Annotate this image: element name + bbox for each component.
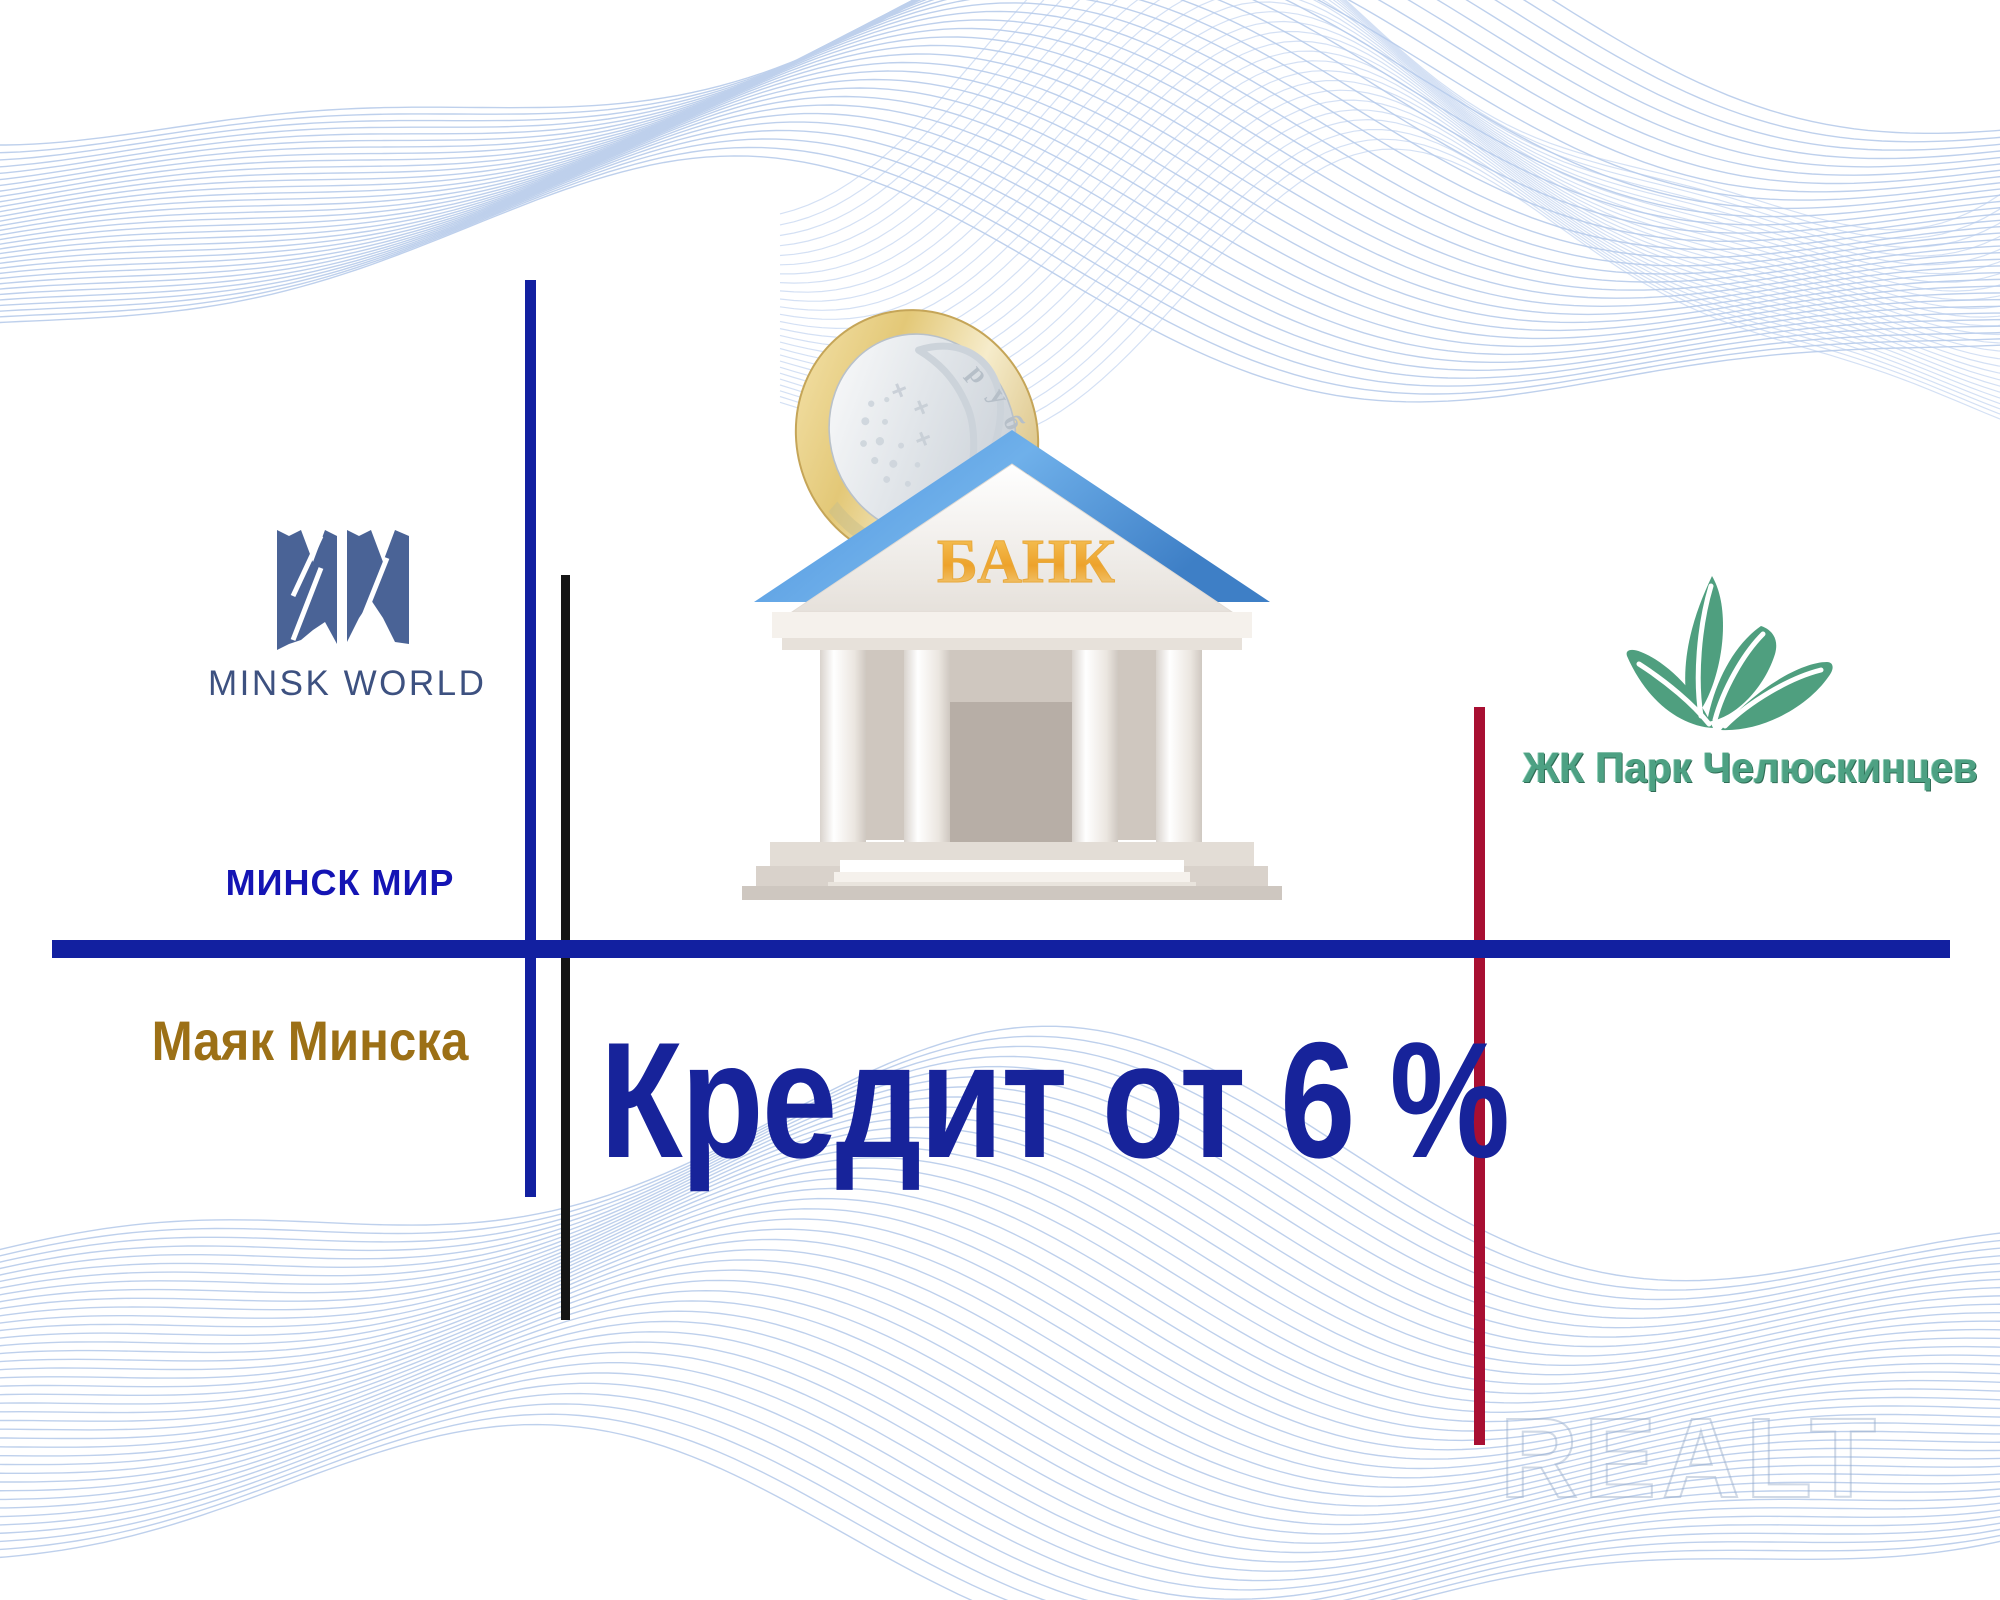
park-chelyuskintsev-leaves-icon bbox=[1595, 570, 1855, 740]
park-chelyuskintsev-label: ЖК Парк Челюскинцев bbox=[1523, 744, 1927, 793]
headline-credit-rate: Кредит от 6 % bbox=[600, 1018, 1508, 1183]
bank-steps bbox=[742, 842, 1282, 900]
realt-watermark: REALT bbox=[1500, 1392, 1882, 1523]
mayak-minska-label: Маяк Минска bbox=[152, 1008, 469, 1073]
blue-vertical-rule bbox=[525, 280, 536, 1197]
minsk-world-mw-monogram-icon bbox=[263, 522, 423, 652]
minsk-world-wordmark: MINSK WORLD bbox=[208, 664, 478, 704]
bank-sign-text: БАНК bbox=[937, 528, 1115, 596]
minsk-mir-label: МИНСК МИР bbox=[180, 862, 500, 904]
bank-building-with-coin-illustration: р у б л і БАНК bbox=[712, 282, 1312, 902]
bank-doorway bbox=[940, 702, 1086, 842]
park-chelyuskintsev-logo: ЖК Парк Челюскинцев bbox=[1510, 570, 1940, 793]
promo-banner: MINSK WORLD МИНСК МИР Маяк Минска bbox=[0, 0, 2000, 1600]
blue-horizontal-rule bbox=[52, 940, 1950, 958]
minsk-world-logo: MINSK WORLD bbox=[208, 522, 478, 704]
bank-architrave bbox=[772, 612, 1252, 638]
